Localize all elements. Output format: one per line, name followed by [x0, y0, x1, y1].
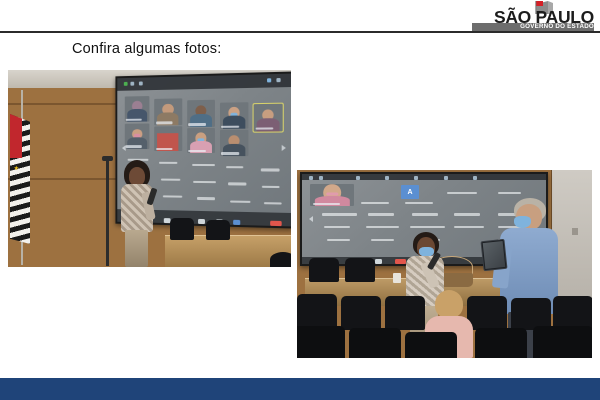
participant-tile: [220, 130, 249, 156]
photo-auditorium-presenter-wide: ★: [8, 70, 291, 267]
header-divider: [0, 31, 600, 33]
participant-name-label: [361, 202, 389, 204]
participant-name-label: [197, 197, 215, 200]
cup-on-table: [393, 273, 401, 283]
participant-name-label: [410, 226, 445, 228]
participant-name-label: [454, 226, 484, 228]
participant-name-label: [368, 213, 393, 215]
meeting-topbar: [117, 74, 291, 92]
participant-name-label: [230, 200, 250, 203]
participant-tile: [124, 124, 149, 149]
footer-bar: [0, 378, 600, 400]
photo-1-scene: ★: [8, 70, 291, 267]
grid-prev-arrow-icon: [122, 146, 126, 152]
meeting-topbar: [302, 174, 546, 180]
participant-name-label: [226, 166, 243, 168]
page-title: Confira algumas fotos:: [72, 41, 221, 57]
slide-canvas: SÃO PAULO GOVERNO DO ESTADO Confira algu…: [0, 0, 600, 400]
auditorium-chair: [309, 258, 339, 282]
tablet-device[interactable]: [480, 239, 507, 271]
auditorium-chair: [170, 218, 194, 240]
participant-name-label: [412, 213, 437, 215]
participant-name-label: [322, 213, 357, 215]
logo-subtitle: GOVERNO DO ESTADO: [472, 23, 594, 31]
participant-tile: [124, 96, 149, 122]
presenter-legs: [125, 230, 148, 267]
auditorium-chair: [349, 328, 401, 358]
flag-star-icon: ★: [14, 166, 19, 172]
participant-name-label: [260, 169, 279, 171]
participant-name-label: [447, 192, 477, 194]
grid-prev-arrow-icon: [309, 216, 313, 222]
grid-next-arrow-icon: [281, 145, 285, 151]
participant-name-label: [366, 226, 398, 228]
participant-name-label: [161, 178, 180, 180]
auditorium-chair: [206, 220, 230, 240]
auditorium-chair: [553, 296, 592, 330]
photo-2-scene: A: [297, 170, 592, 358]
participant-name-label: [192, 164, 215, 166]
wall-switch-plate: [572, 228, 578, 235]
participant-name-label: [327, 239, 350, 241]
participant-name-label: [324, 226, 349, 228]
participant-tile-active: [254, 104, 283, 132]
participant-name-label: [371, 239, 394, 241]
auditorium-chair: [297, 326, 345, 358]
participant-tile-avatar: A: [401, 185, 420, 199]
presenter-person: [118, 160, 160, 267]
participant-name-label: [498, 192, 521, 194]
sao-paulo-government-logo: SÃO PAULO GOVERNO DO ESTADO: [472, 1, 594, 29]
participant-name-label: [405, 202, 433, 204]
auditorium-chair: [405, 332, 457, 358]
photo-auditorium-audience: A: [297, 170, 592, 358]
participant-name-label: [193, 181, 216, 183]
auditorium-chair: [297, 294, 337, 328]
mic-stand-head: [102, 156, 113, 161]
auditorium-chair: [475, 328, 527, 358]
auditorium-chair: [533, 326, 592, 358]
participant-name-label: [262, 185, 279, 187]
participant-tile: [154, 126, 181, 151]
participant-tile: [220, 102, 249, 129]
participant-name-label: [159, 161, 177, 163]
participant-name-label: [264, 202, 281, 205]
participant-name-label: [454, 213, 479, 215]
participant-tile-active: [310, 184, 354, 206]
tablet-screen: [483, 241, 505, 269]
auditorium-chair: [341, 296, 381, 330]
auditorium-chair: [385, 296, 425, 330]
participant-tile: [187, 100, 215, 127]
participant-name-label: [162, 196, 181, 198]
sao-paulo-state-flag: ★: [10, 114, 30, 244]
participant-name-label: [228, 183, 247, 185]
auditorium-chair: [270, 252, 291, 267]
participant-tile: [187, 128, 215, 154]
cameraman-face-mask: [514, 216, 531, 228]
auditorium-chair: [467, 296, 507, 330]
mic-stand: [106, 158, 109, 266]
audience-hair: [435, 290, 463, 318]
auditorium-chair: [345, 258, 375, 282]
flag-canton: [10, 114, 22, 158]
participant-tile: [154, 98, 181, 125]
